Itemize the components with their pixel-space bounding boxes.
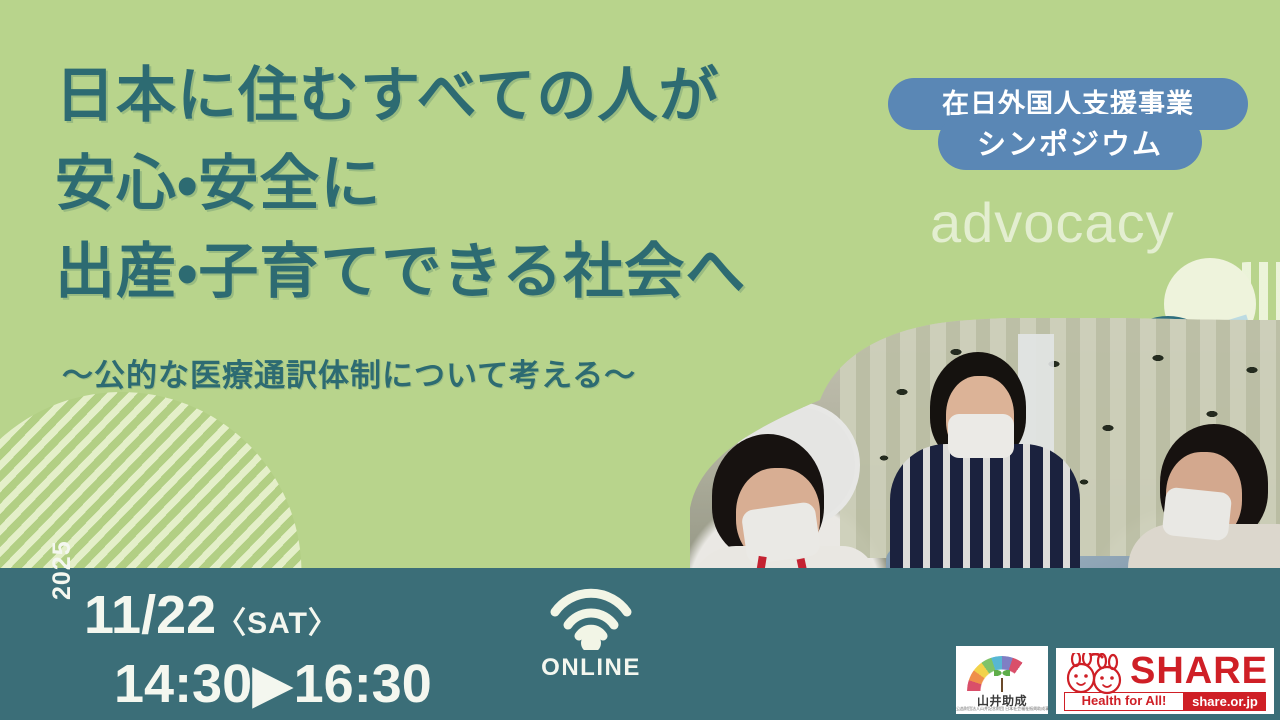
grant-logo: 山井助成 公益財団法人山井記念財団 日本社会福祉振興助成事業 [956,646,1048,714]
sponsor-logos: 山井助成 公益財団法人山井記念財団 日本社会福祉振興助成事業 [956,646,1274,714]
poster-canvas: 日本に住むすべての人が 安心・安全に 出産・子育てできる社会へ 〜公的な医療通訳… [0,0,1280,720]
grant-logo-subtext: 公益財団法人山井記念財団 日本社会福祉振興助成事業 [956,706,1048,712]
event-year: 2025 [48,540,77,600]
event-category-badge: 在日外国人支援事業 シンポジウム [888,78,1248,170]
share-tagline-strip: Health for All! share.or.jp [1064,692,1266,711]
sprout-icon [994,670,1010,692]
share-wordmark: SHARE [1130,650,1268,692]
striped-blob-decoration [0,389,302,585]
event-weekday: 〈SAT〉 [216,607,339,640]
share-url: share.or.jp [1184,692,1266,711]
event-date-row: 11/22〈SAT〉 [84,586,432,653]
share-tagline: Health for All! [1064,692,1184,711]
headline-line-2: 安心・安全に [55,140,895,228]
badge-line-2: シンポジウム [938,114,1202,170]
page-subtitle: 〜公的な医療通訳体制について考える〜 [62,350,636,395]
rabbit-pair-icon [1064,653,1126,695]
share-logo: SHARE Health for All! share.or.jp [1056,648,1274,714]
online-label: ONLINE [536,654,646,682]
headline-line-1: 日本に住むすべての人が [55,52,895,140]
event-datetime: 11/22〈SAT〉 14:30▶16:30 [84,586,432,715]
advocacy-watermark: advocacy [930,190,1175,255]
event-date: 11/22 [84,585,216,645]
page-title: 日本に住むすべての人が 安心・安全に 出産・子育てできる社会へ [55,52,895,316]
event-time: 14:30▶16:30 [84,653,432,715]
headline-line-3: 出産・子育てできる社会へ [55,228,895,316]
online-indicator: ONLINE [536,588,646,682]
wifi-icon [545,588,637,650]
